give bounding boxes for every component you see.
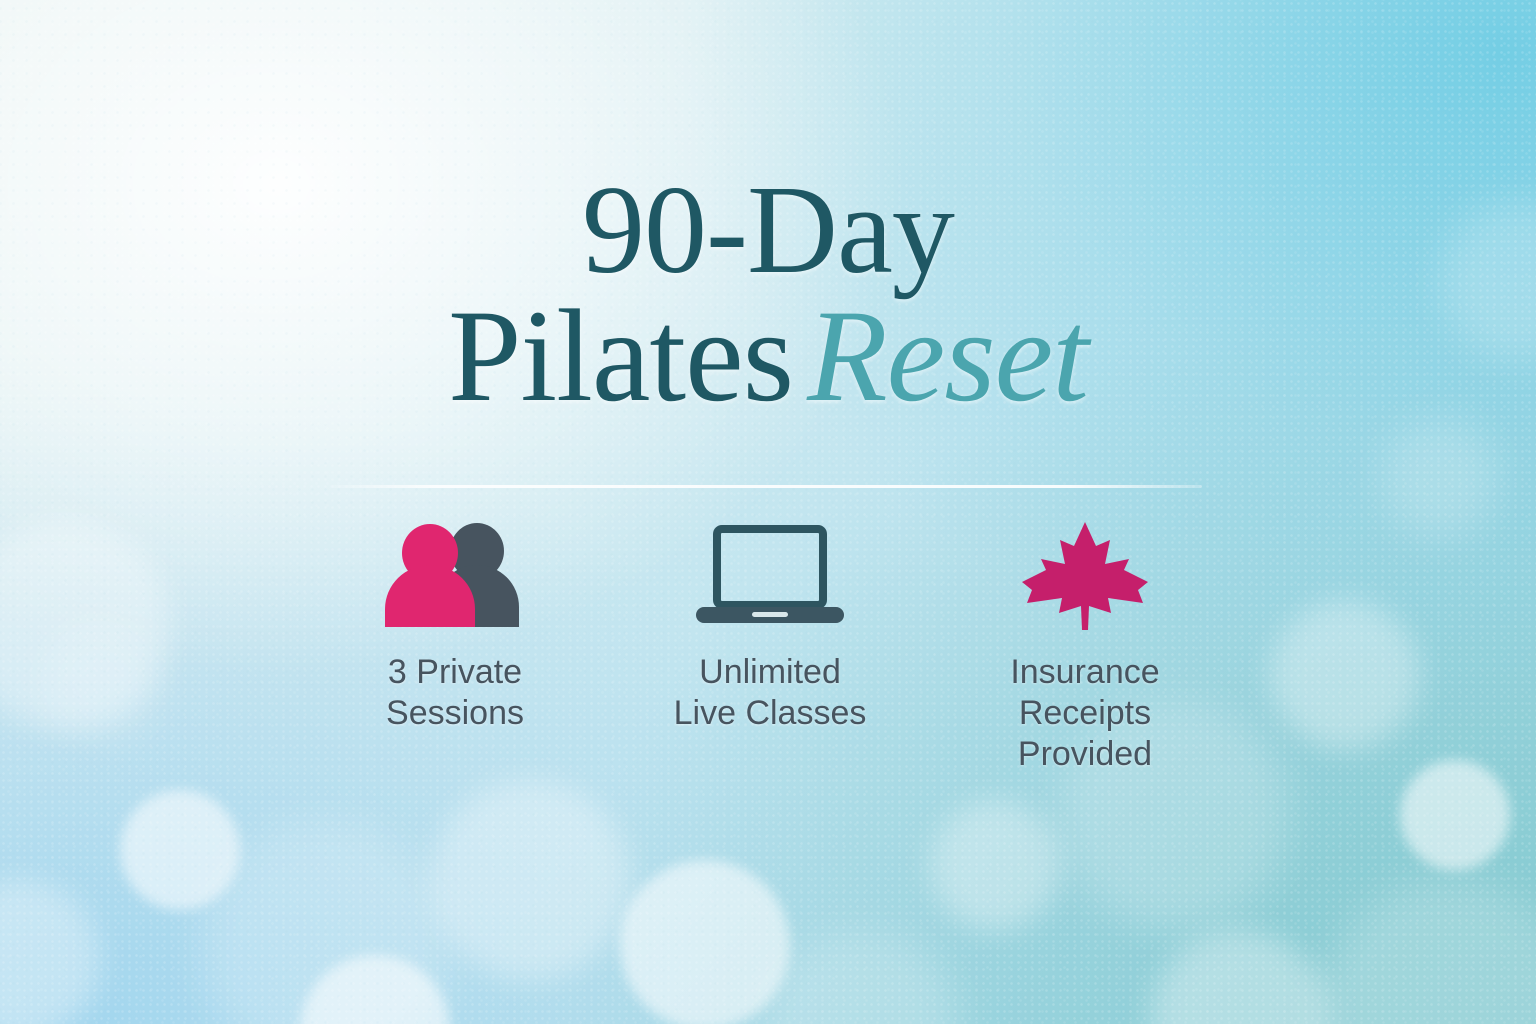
poster-title: 90-Day PilatesReset — [0, 168, 1536, 422]
feature-item-live-classes: Unlimited Live Classes — [645, 520, 895, 734]
feature-list: 3 Private Sessions Unlimited Live Classe… — [330, 520, 1210, 774]
feature-label: Insurance Receipts Provided — [1010, 652, 1159, 774]
feature-label: 3 Private Sessions — [386, 652, 524, 734]
feature-label: Unlimited Live Classes — [674, 652, 867, 734]
title-word-pilates: Pilates — [448, 282, 793, 429]
divider-line — [330, 485, 1202, 488]
two-people-icon — [385, 520, 525, 630]
feature-item-private-sessions: 3 Private Sessions — [330, 520, 580, 734]
promo-poster: 90-Day PilatesReset 3 Priv — [0, 0, 1536, 1024]
title-word-reset: Reset — [807, 282, 1088, 429]
title-line-2: PilatesReset — [0, 290, 1536, 422]
title-line-1: 90-Day — [0, 168, 1536, 294]
maple-leaf-icon — [1022, 520, 1148, 630]
feature-item-insurance-receipts: Insurance Receipts Provided — [960, 520, 1210, 774]
laptop-icon — [692, 520, 848, 630]
